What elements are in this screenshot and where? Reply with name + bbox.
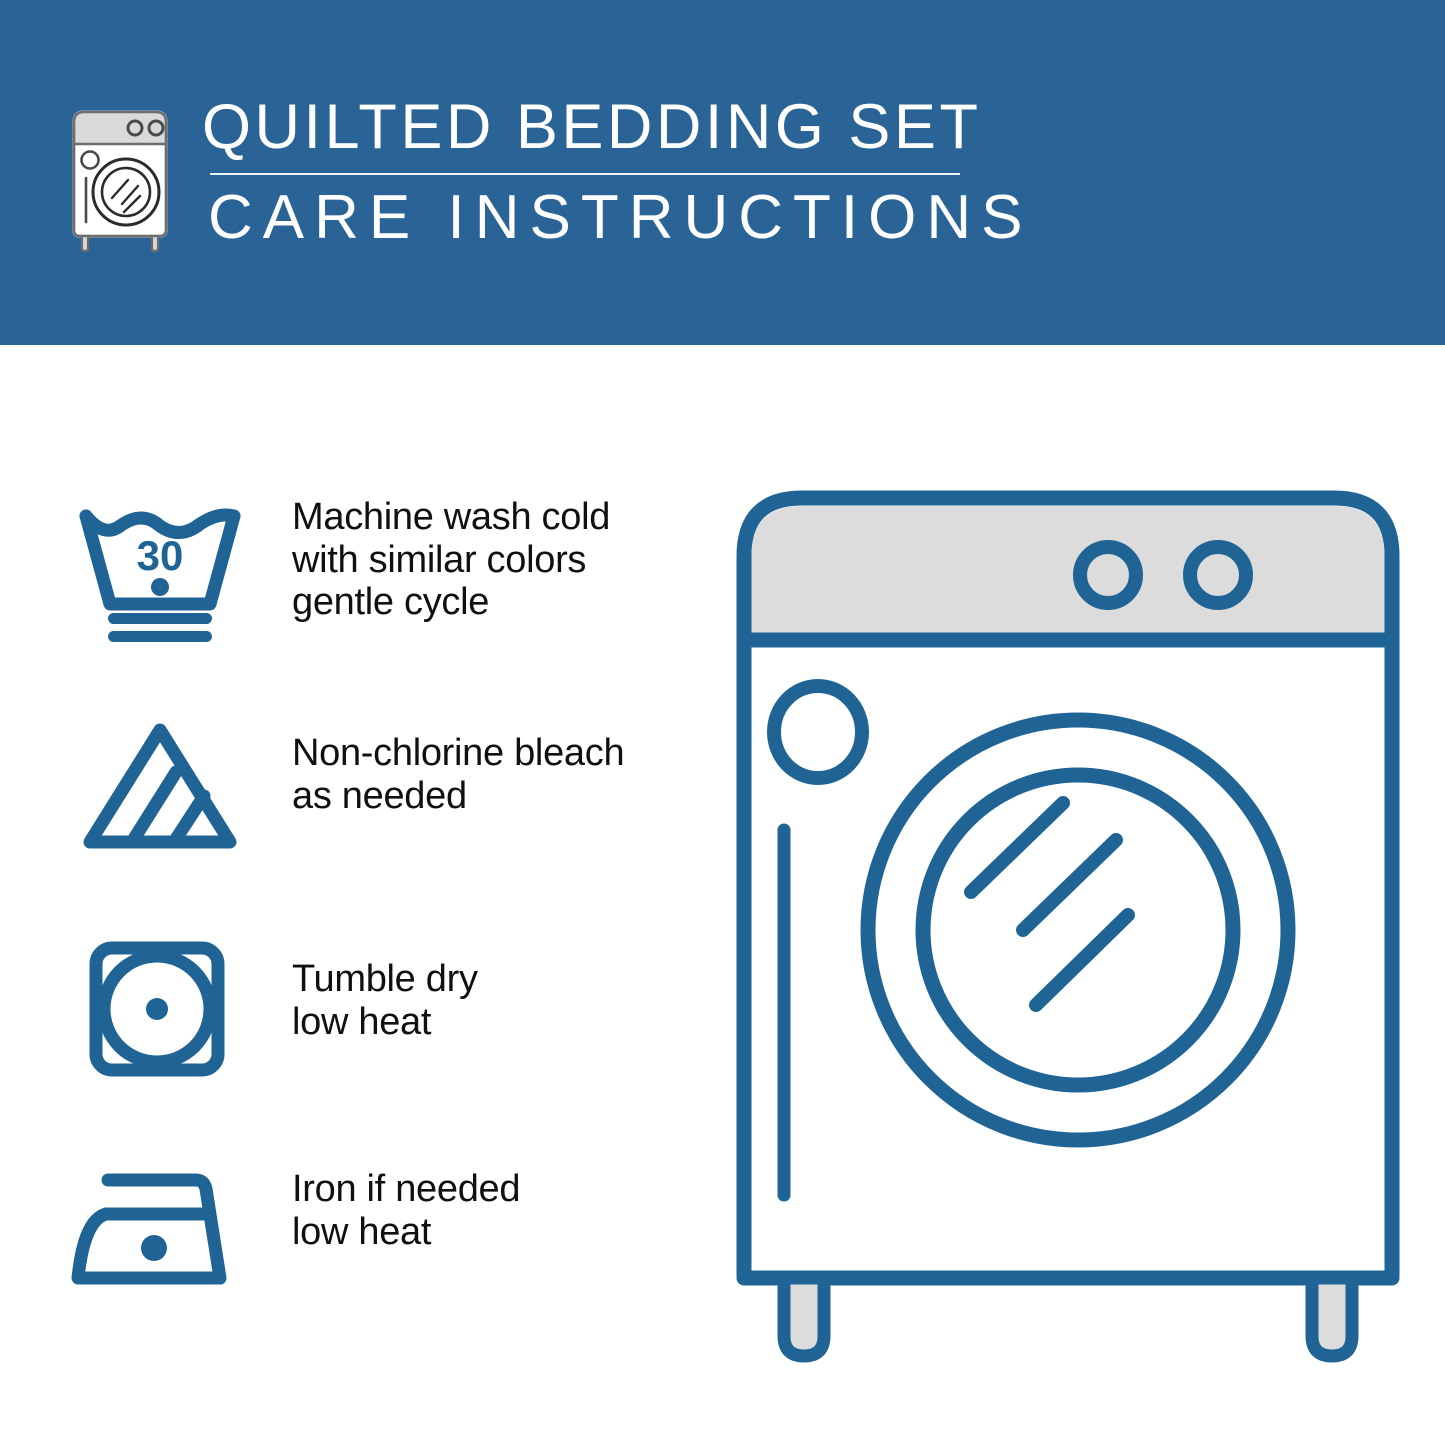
front-load-washing-machine-illustration <box>718 460 1418 1380</box>
non-chlorine-bleach-triangle-icon <box>70 716 250 856</box>
title-divider <box>210 173 960 175</box>
wash-temperature-value: 30 <box>137 532 184 579</box>
care-label-tumble-dry: Tumble dry low heat <box>292 924 478 1043</box>
care-row-iron: Iron if needed low heat <box>70 1146 690 1368</box>
gentle-bar-2 <box>108 631 212 642</box>
care-instruction-list: 30 Machine wash cold with similar colors… <box>70 480 690 1368</box>
care-label-bleach: Non-chlorine bleach as needed <box>292 702 624 817</box>
care-symbol-slot: 30 <box>70 480 260 648</box>
care-symbol-slot <box>70 702 260 856</box>
gentle-bar-1 <box>108 613 212 624</box>
washing-machine-icon <box>60 100 180 255</box>
door-inner-ring <box>923 775 1233 1085</box>
leg-right <box>1312 1278 1352 1356</box>
detergent-port <box>774 686 862 778</box>
care-label-line: Machine wash cold <box>292 496 610 539</box>
header-content: QUILTED BEDDING SET CARE INSTRUCTIONS <box>60 96 1032 255</box>
care-row-bleach: Non-chlorine bleach as needed <box>70 702 690 924</box>
header-title-block: QUILTED BEDDING SET CARE INSTRUCTIONS <box>202 96 1032 249</box>
wash-dot <box>151 578 169 596</box>
care-row-tumble-dry: Tumble dry low heat <box>70 924 690 1146</box>
care-label-line: gentle cycle <box>292 581 610 624</box>
wash-tub-30-gentle-icon: 30 <box>70 498 250 648</box>
tumble-dry-low-heat-icon <box>70 932 250 1082</box>
care-label-line: Non-chlorine bleach <box>292 732 624 775</box>
knob-left[interactable] <box>1080 547 1136 603</box>
care-label-machine-wash: Machine wash cold with similar colors ge… <box>292 480 610 624</box>
care-label-line: with similar colors <box>292 539 610 582</box>
care-label-line: Iron if needed <box>292 1168 520 1211</box>
care-label-line: as needed <box>292 775 624 818</box>
care-label-line: low heat <box>292 1211 520 1254</box>
care-label-iron: Iron if needed low heat <box>292 1146 520 1253</box>
care-row-machine-wash: 30 Machine wash cold with similar colors… <box>70 480 690 702</box>
care-label-line: low heat <box>292 1001 478 1044</box>
care-symbol-slot <box>70 1146 260 1302</box>
control-panel <box>752 506 1385 640</box>
page-subtitle: CARE INSTRUCTIONS <box>208 187 1032 249</box>
iron-low-heat-icon <box>70 1162 255 1302</box>
care-instructions-page: QUILTED BEDDING SET CARE INSTRUCTIONS 30 <box>0 0 1445 1445</box>
care-symbol-slot <box>70 924 260 1082</box>
dry-heat-dot <box>146 998 168 1020</box>
page-title: QUILTED BEDDING SET <box>202 96 1032 159</box>
iron-heat-dot <box>141 1235 167 1261</box>
leg-left <box>784 1278 824 1356</box>
header-band: QUILTED BEDDING SET CARE INSTRUCTIONS <box>0 0 1445 345</box>
care-label-line: Tumble dry <box>292 958 478 1001</box>
knob-right[interactable] <box>1190 547 1246 603</box>
